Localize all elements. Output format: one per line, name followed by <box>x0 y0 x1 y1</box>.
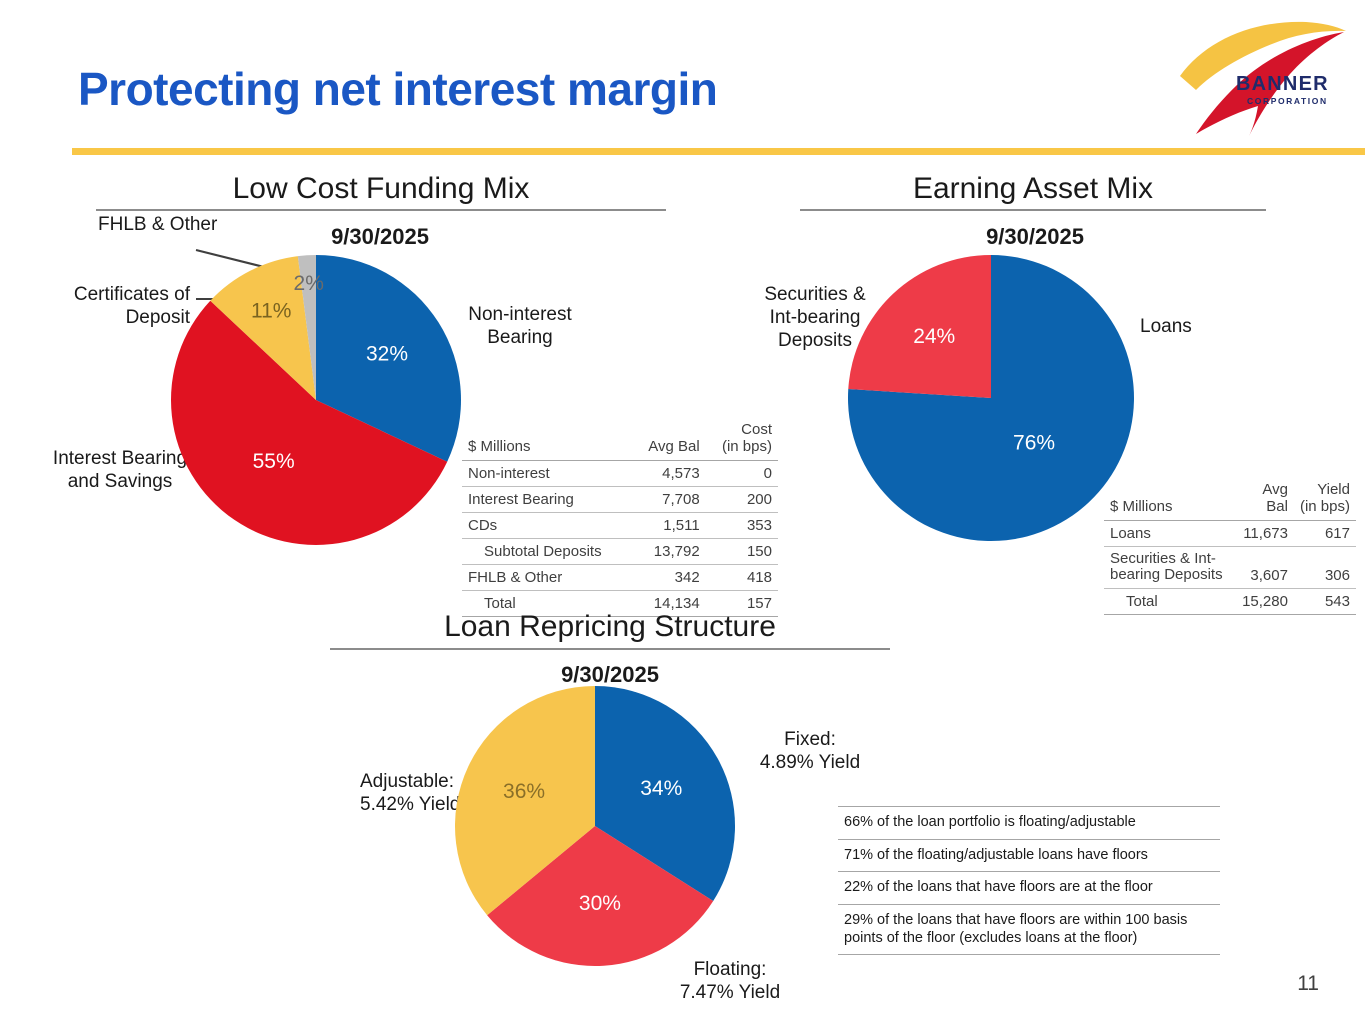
page-title: Protecting net interest margin <box>78 62 717 116</box>
pie-slice-value-label: 36% <box>503 780 545 803</box>
table-header-row: $ Millions Avg Bal Cost(in bps) <box>462 418 778 460</box>
fact-item: 71% of the floating/adjustable loans hav… <box>838 839 1220 872</box>
pie-slice-value-label: 32% <box>366 342 408 365</box>
cell-avg-bal: 7,708 <box>632 486 706 512</box>
table-row: FHLB & Other342418 <box>462 564 778 590</box>
col-header-yield-line1: Yield <box>1317 481 1350 498</box>
cell-avg-bal: 11,673 <box>1236 520 1294 546</box>
funding-table-body: Non-interest4,5730Interest Bearing7,7082… <box>462 460 778 616</box>
banner-corporation-logo: BANNER CORPORATION <box>1172 14 1352 139</box>
pie-slice-value-label: 11% <box>251 300 291 323</box>
cell-avg-bal: 342 <box>632 564 706 590</box>
cell-cost: 200 <box>706 486 778 512</box>
asset-data-table: $ Millions AvgBal Yield(in bps) Loans11,… <box>1104 478 1356 615</box>
table-header-row: $ Millions AvgBal Yield(in bps) <box>1104 478 1356 520</box>
table-row: Securities & Int-bearing Deposits3,60730… <box>1104 546 1356 589</box>
callout-adjustable-yield: Adjustable: 5.42% Yield <box>360 770 460 816</box>
section-rule-repricing <box>330 648 890 650</box>
pie-slice-value-label: 24% <box>913 325 955 348</box>
title-accent-bar <box>72 148 1365 155</box>
cell-avg-bal: 13,792 <box>632 538 706 564</box>
section-date-assets: 9/30/2025 <box>895 224 1175 250</box>
table-row: Loans11,673617 <box>1104 520 1356 546</box>
cell-avg-bal: 4,573 <box>632 460 706 486</box>
callout-loans: Loans <box>1140 315 1192 338</box>
repricing-pie-chart: 34%30%36% <box>449 680 741 972</box>
asset-table-body: Loans11,673617Securities & Int-bearing D… <box>1104 520 1356 615</box>
cell-yield: 306 <box>1294 546 1356 589</box>
fact-item: 29% of the loans that have floors are wi… <box>838 904 1220 955</box>
funding-pie-chart: 32%55%11%2% <box>165 249 467 551</box>
cell-cost: 353 <box>706 512 778 538</box>
pie-slice-value-label: 76% <box>1013 431 1055 454</box>
slide-canvas: Protecting net interest margin BANNER CO… <box>0 0 1365 1024</box>
col-header-cost-line1: Cost <box>741 421 772 438</box>
cell-label: Interest Bearing <box>462 486 632 512</box>
cell-label: Total <box>1104 589 1236 615</box>
col-header-millions: $ Millions <box>1104 478 1236 520</box>
fact-item: 22% of the loans that have floors are at… <box>838 871 1220 904</box>
cell-yield: 617 <box>1294 520 1356 546</box>
cell-avg-bal: 1,511 <box>632 512 706 538</box>
logo-subwordmark: CORPORATION <box>1247 96 1328 106</box>
col-header-yield-line2: (in bps) <box>1300 498 1350 515</box>
pie-slice-value-label: 55% <box>253 450 295 473</box>
cell-cost: 150 <box>706 538 778 564</box>
loan-floor-facts-list: 66% of the loan portfolio is floating/ad… <box>838 806 1220 955</box>
pie-slice-value-label: 30% <box>579 892 621 915</box>
section-title-repricing: Loan Repricing Structure <box>330 610 890 644</box>
section-rule-funding <box>96 209 666 211</box>
cell-avg-bal: 3,607 <box>1236 546 1294 589</box>
col-header-avg: Avg <box>1262 481 1288 498</box>
section-title-assets: Earning Asset Mix <box>800 172 1266 206</box>
cell-label: CDs <box>462 512 632 538</box>
col-header-avg-bal: Avg Bal <box>632 418 706 460</box>
table-row: Subtotal Deposits13,792150 <box>462 538 778 564</box>
table-row: Non-interest4,5730 <box>462 460 778 486</box>
cell-yield: 543 <box>1294 589 1356 615</box>
section-rule-assets <box>800 209 1266 211</box>
table-row: Interest Bearing7,708200 <box>462 486 778 512</box>
table-row: Total15,280543 <box>1104 589 1356 615</box>
col-header-cost: Cost(in bps) <box>706 418 778 460</box>
cell-label: Non-interest <box>462 460 632 486</box>
section-title-funding: Low Cost Funding Mix <box>96 172 666 206</box>
col-header-avg-bal: AvgBal <box>1236 478 1294 520</box>
callout-fixed-yield: Fixed: 4.89% Yield <box>722 728 898 774</box>
page-number: 11 <box>1297 972 1319 996</box>
pie-slice-value-label: 34% <box>640 777 682 800</box>
col-header-yield: Yield(in bps) <box>1294 478 1356 520</box>
cell-cost: 0 <box>706 460 778 486</box>
pie-slice-value-label: 2% <box>294 272 324 295</box>
cell-cost: 418 <box>706 564 778 590</box>
cell-label: Loans <box>1104 520 1236 546</box>
logo-wordmark: BANNER <box>1236 73 1329 95</box>
col-header-bal: Bal <box>1266 498 1288 515</box>
col-header-millions: $ Millions <box>462 418 632 460</box>
cell-avg-bal: 15,280 <box>1236 589 1294 615</box>
cell-label: Securities & Int-bearing Deposits <box>1104 546 1236 589</box>
asset-pie-chart: 76%24% <box>842 249 1140 547</box>
callout-fhlb-other: FHLB & Other <box>98 213 217 236</box>
funding-data-table: $ Millions Avg Bal Cost(in bps) Non-inte… <box>462 418 778 617</box>
table-row: CDs1,511353 <box>462 512 778 538</box>
col-header-cost-line2: (in bps) <box>722 438 772 455</box>
cell-label: FHLB & Other <box>462 564 632 590</box>
fact-item: 66% of the loan portfolio is floating/ad… <box>838 806 1220 839</box>
cell-label: Subtotal Deposits <box>462 538 632 564</box>
